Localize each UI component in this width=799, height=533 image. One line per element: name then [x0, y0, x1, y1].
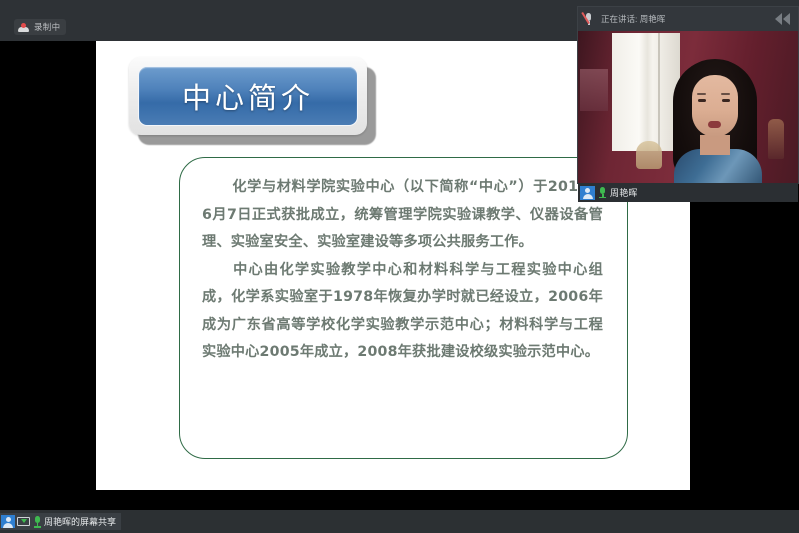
slide-title-plaque: 中心简介 [129, 57, 376, 145]
plaque-outer-frame: 中心简介 [129, 57, 367, 135]
participant-name-bar: 周艳晖 [578, 183, 798, 202]
person-avatar-icon [580, 186, 595, 200]
video-panel-header: 正在讲话: 周艳晖 [578, 7, 798, 31]
video-person-brow-right [721, 93, 730, 95]
speaker-video-panel[interactable]: 正在讲话: 周艳晖 [577, 6, 799, 184]
video-feed[interactable] [578, 31, 798, 183]
video-background-object-right [768, 119, 784, 159]
person-avatar-icon [1, 515, 15, 528]
video-person-eye-left [698, 99, 706, 102]
video-background-shelf [580, 69, 608, 111]
video-person-eye-right [722, 99, 730, 102]
screen-share-icon [17, 516, 30, 528]
slide-paragraph-2: 中心由化学实验教学中心和材料科学与工程实验中心组成，化学系实验室于1978年恢复… [202, 257, 603, 367]
plaque-inner-panel: 中心简介 [138, 66, 358, 126]
bottom-taskbar: 周艳晖的屏幕共享 [0, 510, 799, 533]
slide-paragraph-1: 化学与材料学院实验中心（以下简称“中心”）于2019年6月7日正式获批成立，统筹… [202, 174, 603, 257]
slide-paragraph-2-text: 中心由化学实验教学中心和材料科学与工程实验中心组成，化学系实验室于1978年恢复… [202, 262, 603, 361]
slide-title-text: 中心简介 [182, 75, 314, 117]
video-background-object-left [636, 141, 662, 169]
mic-muted-icon [584, 13, 593, 26]
video-person-mouth [708, 121, 721, 128]
recording-label: 录制中 [34, 21, 60, 33]
mic-active-icon [32, 515, 42, 528]
record-cloud-icon [18, 23, 29, 32]
video-person-brow-left [697, 93, 706, 95]
double-chevron-right-icon[interactable] [775, 13, 790, 25]
video-person-neck [700, 135, 730, 155]
taskbar-share-label: 周艳晖的屏幕共享 [44, 515, 116, 528]
video-cabinet-seam [658, 33, 660, 151]
mic-active-icon [597, 186, 608, 200]
slide-paragraph-1-text: 化学与材料学院实验中心（以下简称“中心”）于2019年6月7日正式获批成立，统筹… [202, 179, 603, 250]
taskbar-screen-share-item[interactable]: 周艳晖的屏幕共享 [0, 513, 121, 530]
slide-body-textbox: 化学与材料学院实验中心（以下简称“中心”）于2019年6月7日正式获批成立，统筹… [179, 157, 628, 459]
recording-badge[interactable]: 录制中 [14, 19, 66, 35]
video-background-cabinet [612, 33, 680, 151]
screen-share-meeting-window: 录制中 中心简介 化学与材料学院实验中心（以下简称“中心”）于2019年6月7日… [0, 0, 799, 533]
active-speaker-label: 正在讲话: 周艳晖 [601, 13, 665, 25]
participant-name-label: 周艳晖 [610, 186, 638, 199]
